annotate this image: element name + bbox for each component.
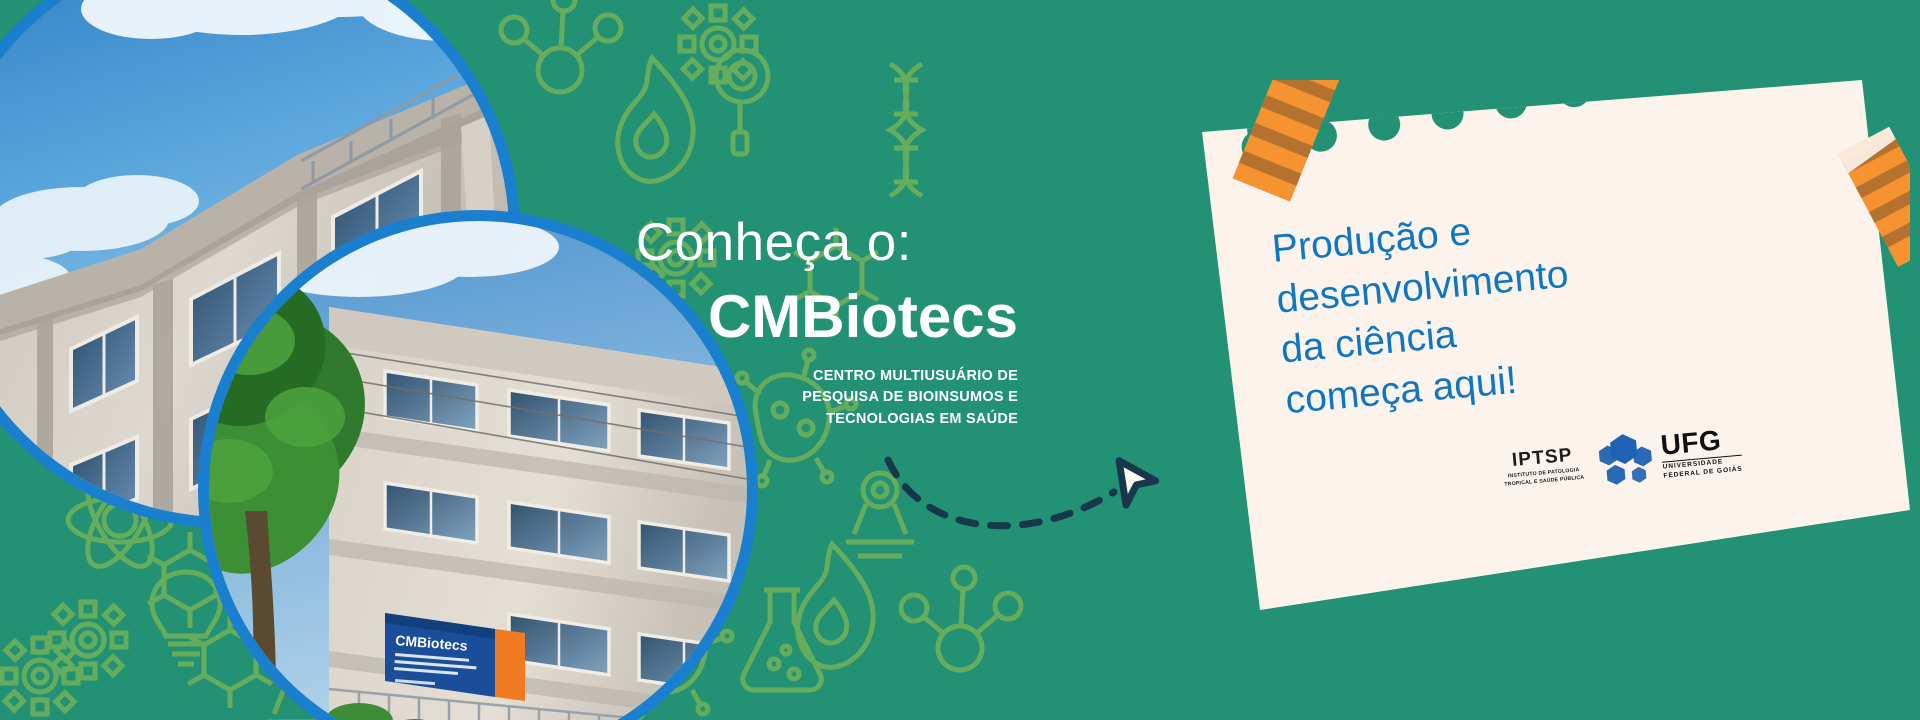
- flame-icon: [618, 58, 694, 181]
- iptsp-logo: IPTSP INSTITUTO DE PATOLOGIA TROPICAL E …: [1502, 445, 1585, 489]
- promo-banner: CMBiotecs: [0, 0, 1920, 720]
- dna-icon: [890, 64, 922, 196]
- note-paper-card: Produção e desenvolvimento da ciência co…: [1190, 80, 1910, 610]
- flame-icon: [798, 544, 874, 667]
- ufg-hexagon-mark: [1597, 431, 1657, 488]
- molecule-icon: [901, 567, 1021, 670]
- subtitle-line-1: CENTRO MULTIUSUÁRIO DE: [560, 366, 1018, 388]
- headline-block: Conheça o: CMBiotecs CENTRO MULTIUSUÁRIO…: [560, 215, 1120, 431]
- magnifier-icon: [716, 50, 768, 154]
- paper-message: Produção e desenvolvimento da ciência co…: [1270, 187, 1716, 427]
- gear-icon: [50, 602, 126, 678]
- subtitle-line-2: PESQUISA DE BIOINSUMOS E: [560, 387, 1018, 409]
- gear-icon: [680, 6, 756, 82]
- ufg-wordmark: UFG: [1660, 425, 1742, 460]
- flask-icon: [743, 590, 822, 690]
- page-subtitle: CENTRO MULTIUSUÁRIO DE PESQUISA DE BIOIN…: [560, 366, 1120, 431]
- dashed-curved-arrow-icon: [880, 440, 1200, 550]
- cursor-pointer-icon: [1110, 461, 1158, 510]
- molecule-icon: [501, 0, 621, 92]
- page-title-lead: Conheça o:: [560, 215, 1120, 271]
- ufg-logo: UFG UNIVERSIDADE FEDERAL DE GOIÁS: [1597, 424, 1744, 488]
- page-title: CMBiotecs: [560, 279, 1120, 354]
- gear-icon: [2, 638, 78, 714]
- subtitle-line-3: TECNOLOGIAS EM SAÚDE: [560, 409, 1018, 431]
